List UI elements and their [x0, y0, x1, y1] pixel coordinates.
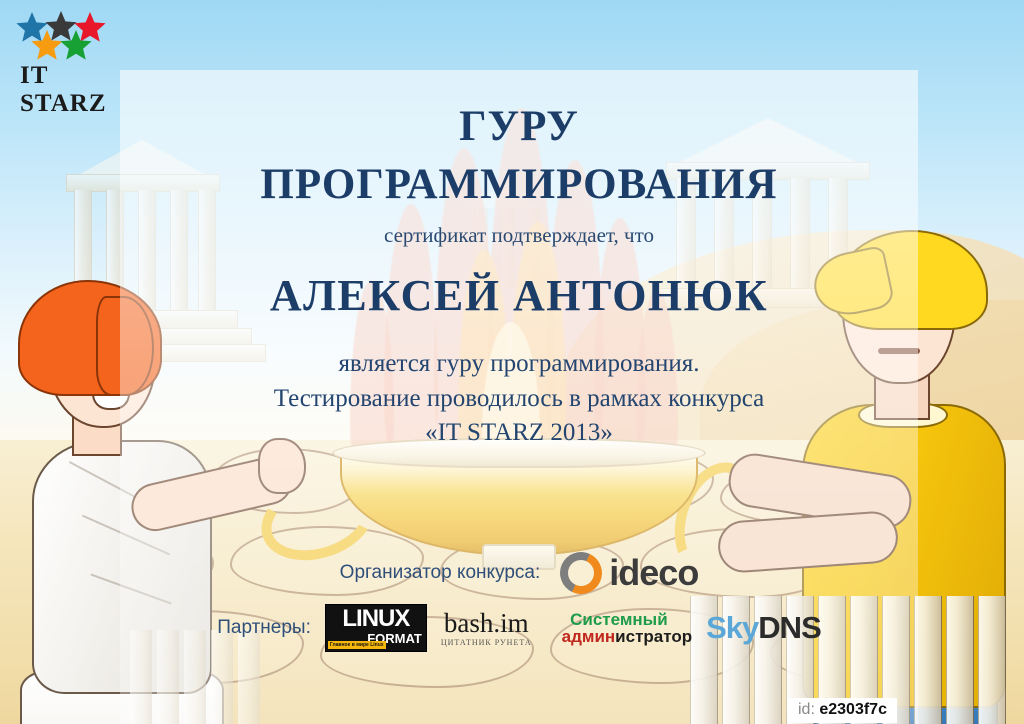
- logo-stars-icon: [14, 10, 114, 62]
- body-line-2: Тестирование проводилось в рамках конкур…: [120, 382, 918, 417]
- organizer-row: Организатор конкурса: ideco: [120, 552, 918, 594]
- body-line-1: является гуру программирования.: [120, 347, 918, 382]
- skydns-word-sky: Sky: [706, 610, 758, 645]
- sysadmin-line-1: Системный: [546, 611, 693, 628]
- sysadmin-line-2-dark: истратор: [615, 627, 692, 646]
- sysadmin-line-2: администратор: [546, 628, 693, 645]
- linux-format-word-top: LINUX: [330, 607, 422, 631]
- partners-label: Партнеры:: [217, 617, 311, 639]
- certificate-id-badge: id: e2303f7c: [788, 698, 897, 723]
- sistemny-administrator-logo: Системный администратор: [546, 611, 693, 645]
- skydns-word-dns: DNS: [758, 610, 820, 645]
- ideco-logo: ideco: [560, 552, 698, 594]
- body-line-3: «IT STARZ 2013»: [120, 416, 918, 451]
- certificate-canvas: IT STARZ ГУРУ ПРОГРАММИРОВАНИЯ сертифика…: [0, 0, 1024, 724]
- title-line-2: ПРОГРАММИРОВАНИЯ: [120, 162, 918, 208]
- title-line-1: ГУРУ: [120, 104, 918, 150]
- certificate-content: ГУРУ ПРОГРАММИРОВАНИЯ сертификат подтвер…: [120, 70, 918, 724]
- skydns-logo: SkyDNS: [706, 610, 821, 646]
- id-label: id:: [798, 701, 815, 718]
- bash-im-logo: bash.im ЦИТАТНИК РУНЕТА: [441, 610, 532, 647]
- id-value: e2303f7c: [819, 701, 887, 718]
- bash-im-subtitle: ЦИТАТНИК РУНЕТА: [441, 638, 532, 647]
- ideco-swirl-icon: [560, 552, 602, 594]
- it-starz-logo: IT STARZ: [14, 10, 114, 88]
- certificate-subtitle: сертификат подтверждает, что: [120, 223, 918, 248]
- recipient-name: АЛЕКСЕЙ АНТОНЮК: [120, 270, 918, 321]
- organizer-label: Организатор конкурса:: [340, 562, 541, 584]
- partners-row: Партнеры: LINUX FORMAT Главное в мире Li…: [120, 604, 918, 652]
- linux-format-tagline: Главное в мире Linux: [328, 641, 386, 649]
- bash-im-wordmark: bash.im: [444, 610, 529, 637]
- certificate-title: ГУРУ ПРОГРАММИРОВАНИЯ: [120, 104, 918, 207]
- sysadmin-line-2-red: админ: [562, 627, 616, 646]
- certificate-body: является гуру программирования. Тестиров…: [120, 347, 918, 451]
- ideco-wordmark: ideco: [609, 552, 698, 594]
- logo-wordmark: IT STARZ: [20, 62, 114, 118]
- linux-format-logo: LINUX FORMAT Главное в мире Linux: [325, 604, 427, 652]
